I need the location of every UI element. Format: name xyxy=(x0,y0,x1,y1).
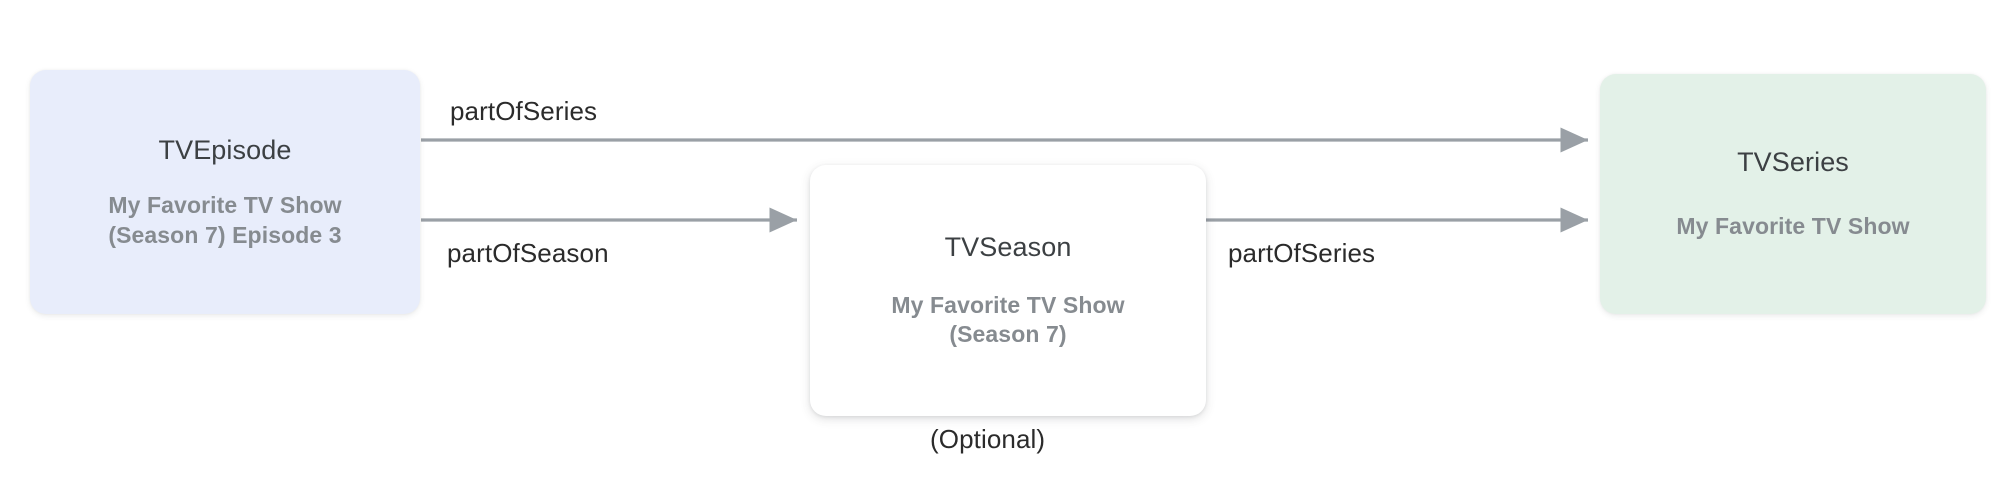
optional-note-label: (Optional) xyxy=(930,424,1045,455)
node-tvseries-subtitle: My Favorite TV Show xyxy=(1676,212,1909,241)
node-tvseason-subtitle-line1: My Favorite TV Show xyxy=(891,291,1124,320)
node-tvepisode-subtitle-line2: (Season 7) Episode 3 xyxy=(108,221,341,250)
node-tvseason[interactable]: TVSeason My Favorite TV Show (Season 7) xyxy=(810,165,1206,416)
node-tvseries[interactable]: TVSeries My Favorite TV Show xyxy=(1600,74,1986,314)
edge-label-episode-to-series: partOfSeries xyxy=(450,96,597,127)
node-tvepisode-subtitle: My Favorite TV Show (Season 7) Episode 3 xyxy=(108,191,341,250)
node-tvepisode-title: TVEpisode xyxy=(159,134,292,168)
node-tvseason-subtitle-line2: (Season 7) xyxy=(891,320,1124,349)
node-tvepisode[interactable]: TVEpisode My Favorite TV Show (Season 7)… xyxy=(30,70,420,314)
node-tvseason-subtitle: My Favorite TV Show (Season 7) xyxy=(891,291,1124,350)
edge-label-episode-to-season: partOfSeason xyxy=(447,238,609,269)
node-tvepisode-subtitle-line1: My Favorite TV Show xyxy=(108,191,341,220)
node-tvseason-title: TVSeason xyxy=(945,231,1072,265)
edge-label-season-to-series: partOfSeries xyxy=(1228,238,1375,269)
diagram-canvas: TVEpisode My Favorite TV Show (Season 7)… xyxy=(0,0,2000,495)
node-tvseries-title: TVSeries xyxy=(1737,146,1849,180)
node-tvseries-subtitle-line1: My Favorite TV Show xyxy=(1676,212,1909,241)
